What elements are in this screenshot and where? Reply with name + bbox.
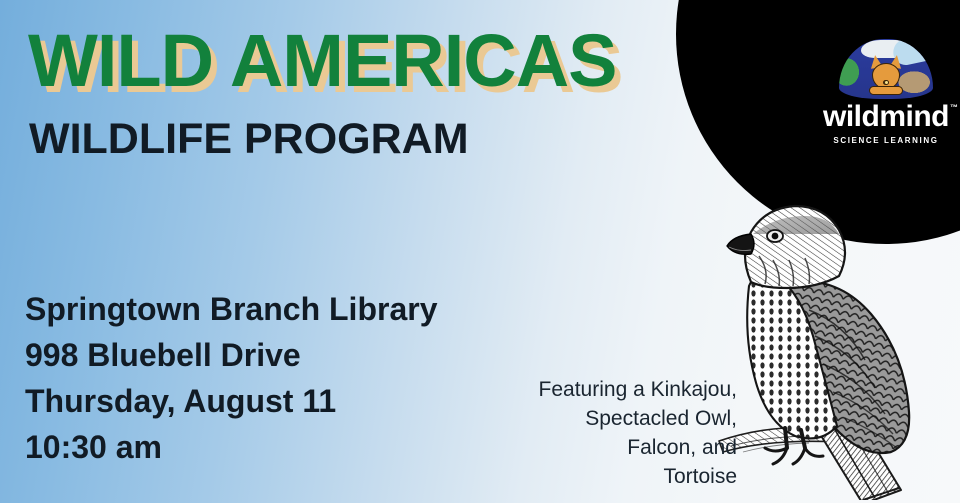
event-time: 10:30 am: [25, 424, 437, 470]
flyer-poster: WILD AMERICAS WILDLIFE PROGRAM Springtow…: [0, 0, 960, 503]
featuring-line-4: Tortoise: [467, 462, 737, 491]
event-date: Thursday, August 11: [25, 378, 437, 424]
page-title: WILD AMERICAS: [28, 24, 617, 98]
featuring-line-3: Falcon, and: [467, 433, 737, 462]
logo-wordmark-text: wildmind: [823, 100, 949, 133]
cat-paws-icon: [869, 86, 903, 95]
serval-cat-icon: [867, 55, 905, 95]
logo-wordmark: wildmind™: [820, 102, 952, 132]
globe-cat-icon: [831, 33, 941, 101]
featuring-line-2: Spectacled Owl,: [467, 404, 737, 433]
logo-tagline: SCIENCE LEARNING: [820, 136, 952, 145]
featuring-animals: Featuring a Kinkajou, Spectacled Owl, Fa…: [467, 375, 737, 491]
wildmind-logo: wildmind™ SCIENCE LEARNING: [820, 33, 952, 153]
head: [727, 206, 845, 288]
falcon-illustration: [713, 190, 960, 500]
event-details: Springtown Branch Library 998 Bluebell D…: [25, 286, 437, 470]
trademark-icon: ™: [950, 104, 958, 112]
page-subtitle: WILDLIFE PROGRAM: [29, 118, 469, 161]
featuring-line-1: Featuring a Kinkajou,: [467, 375, 737, 404]
event-address: 998 Bluebell Drive: [25, 332, 437, 378]
event-venue: Springtown Branch Library: [25, 286, 437, 332]
cat-eye-right-icon: [884, 80, 889, 85]
